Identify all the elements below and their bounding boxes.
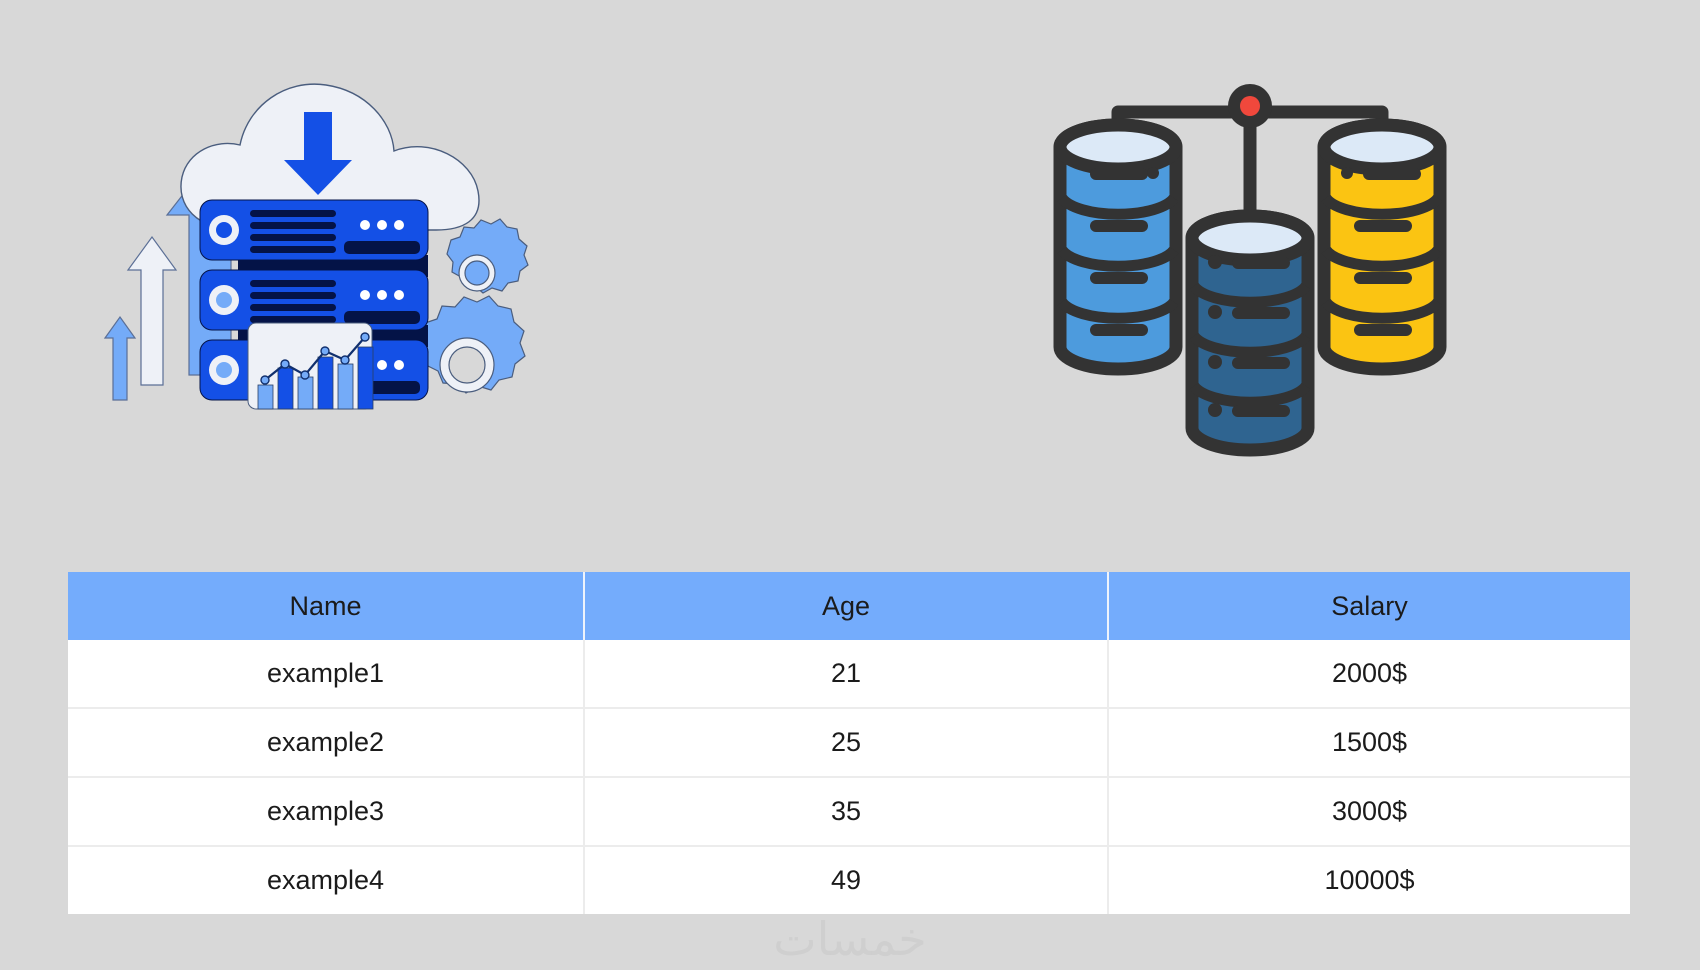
analytics-chart-card-icon	[248, 323, 373, 409]
server-rack-item	[200, 200, 428, 260]
table-row[interactable]: example4 49 10000$	[68, 846, 1630, 914]
cell-age: 35	[584, 777, 1108, 846]
watermark-text: خمسات	[0, 912, 1700, 966]
cell-salary: 10000$	[1108, 846, 1630, 914]
table-row[interactable]: example1 21 2000$	[68, 640, 1630, 708]
column-header-age[interactable]: Age	[584, 572, 1108, 640]
table-body: example1 21 2000$ example2 25 1500$ exam…	[68, 640, 1630, 914]
column-header-salary[interactable]: Salary	[1108, 572, 1630, 640]
page-canvas: Name Age Salary example1 21 2000$ exampl…	[0, 0, 1700, 970]
cell-name: example4	[68, 846, 584, 914]
cell-name: example2	[68, 708, 584, 777]
cell-name: example1	[68, 640, 584, 708]
cell-age: 25	[584, 708, 1108, 777]
table-header: Name Age Salary	[68, 572, 1630, 640]
cloud-server-illustration	[100, 55, 560, 435]
cloud-server-graphic	[100, 55, 560, 435]
database-cluster-graphic	[1050, 70, 1470, 465]
database-cylinder-center	[1192, 216, 1308, 450]
status-indicator-red-dot	[1240, 96, 1260, 116]
cell-age: 49	[584, 846, 1108, 914]
database-cylinder-left	[1060, 125, 1176, 369]
cell-salary: 3000$	[1108, 777, 1630, 846]
gear-large-icon	[420, 296, 525, 393]
table-header-row: Name Age Salary	[68, 572, 1630, 640]
server-rack-item	[200, 270, 428, 330]
cell-salary: 1500$	[1108, 708, 1630, 777]
database-cylinder-right	[1324, 125, 1440, 369]
column-header-name[interactable]: Name	[68, 572, 584, 640]
cell-name: example3	[68, 777, 584, 846]
cell-age: 21	[584, 640, 1108, 708]
table-row[interactable]: example2 25 1500$	[68, 708, 1630, 777]
employee-data-table: Name Age Salary example1 21 2000$ exampl…	[68, 572, 1630, 914]
cell-salary: 2000$	[1108, 640, 1630, 708]
table-row[interactable]: example3 35 3000$	[68, 777, 1630, 846]
database-cluster-illustration	[1050, 70, 1470, 465]
gear-small-icon	[447, 219, 528, 293]
